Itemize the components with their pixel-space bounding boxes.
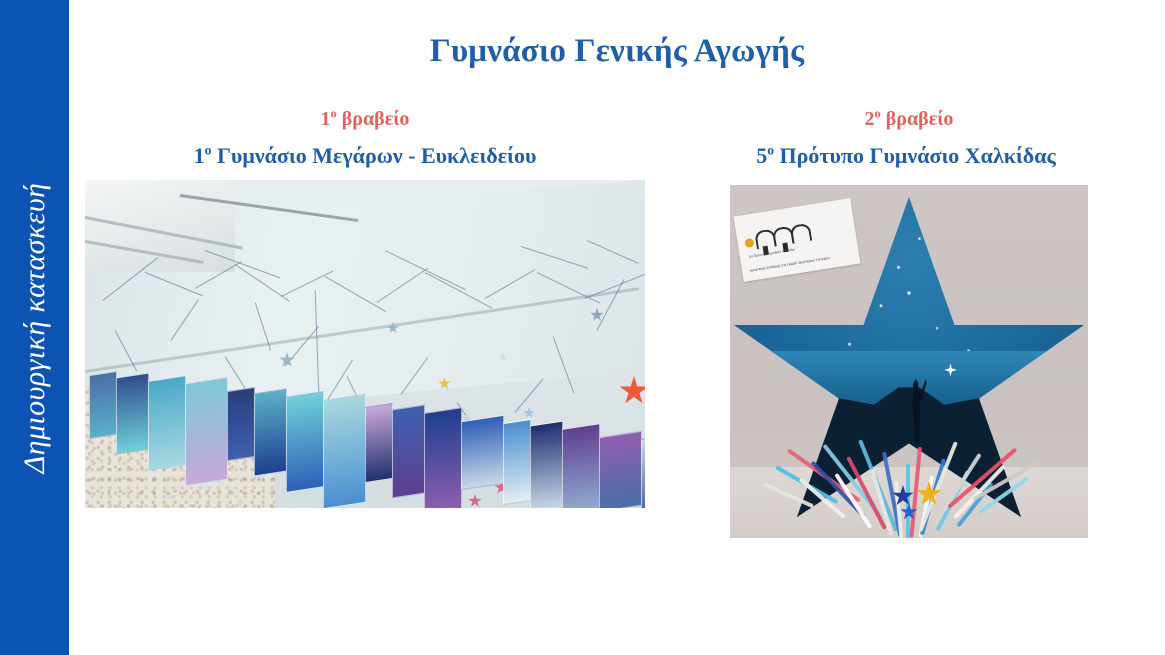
city-drawing [185, 377, 228, 486]
prize-number-first: 1 [321, 108, 331, 130]
prize-word-second: βραβείο [881, 108, 954, 130]
photo-blue-star: 5ο Πρότυπο Γυμνάσιο Χαλκίδας «ΕΝΑ ΦΩΣ ΕΛ… [730, 185, 1088, 538]
city-drawing [148, 375, 186, 471]
award-block-second: 2ο βραβείο 5ο Πρότυπο Γυμνάσιο Χαλκίδας [730, 108, 1088, 169]
city-drawing [503, 419, 531, 505]
city-drawing [116, 373, 149, 455]
city-drawing [254, 389, 287, 477]
city-drawing [286, 391, 324, 493]
prize-number-second: 2 [865, 108, 875, 130]
school-ordinal-second: ο [767, 143, 774, 158]
sun-icon [744, 238, 754, 248]
school-name-first: 1ο Γυμνάσιο Μεγάρων - Ευκλειδείου [85, 143, 645, 169]
side-band-label: Δημιουργική κατασκευή [18, 182, 52, 473]
award-block-first: 1ο βραβείο 1ο Γυμνάσιο Μεγάρων - Ευκλειδ… [85, 108, 645, 169]
school-title-first: Γυμνάσιο Μεγάρων - Ευκλειδείου [211, 143, 536, 168]
city-drawing [227, 387, 255, 461]
wall-scene [85, 180, 645, 508]
school-name-second: 5ο Πρότυπο Γυμνάσιο Χαλκίδας [724, 143, 1088, 169]
school-number-first: 1 [194, 143, 205, 168]
school-number-second: 5 [756, 143, 767, 168]
prize-word-first: βραβείο [337, 108, 410, 130]
presentation-slide: Δημιουργική κατασκευή Γυμνάσιο Γενικής Α… [0, 0, 1165, 655]
arch-icon [790, 223, 813, 244]
city-drawing [599, 431, 642, 508]
city-drawing [461, 415, 504, 490]
photo-constellation-wall [85, 180, 645, 508]
page-title: Γυμνάσιο Γενικής Αγωγής [69, 33, 1165, 70]
city-drawing [89, 370, 117, 438]
city-drawing [392, 405, 425, 499]
city-drawing [365, 403, 393, 483]
prize-label-first: 1ο βραβείο [85, 108, 645, 131]
side-band: Δημιουργική κατασκευή [0, 0, 69, 655]
city-drawing [641, 435, 645, 508]
city-drawing [562, 423, 600, 508]
ceiling-rail [85, 240, 203, 264]
sign-logo-text: 5ο Πρότυπο Γυμνάσιο Χαλκίδας [749, 247, 796, 258]
prize-label-second: 2ο βραβείο [730, 108, 1088, 131]
city-drawing [424, 407, 462, 508]
school-title-second: Πρότυπο Γυμνάσιο Χαλκίδας [774, 143, 1056, 168]
city-drawing [530, 421, 563, 508]
ceiling [85, 180, 235, 272]
city-drawing [323, 393, 366, 508]
